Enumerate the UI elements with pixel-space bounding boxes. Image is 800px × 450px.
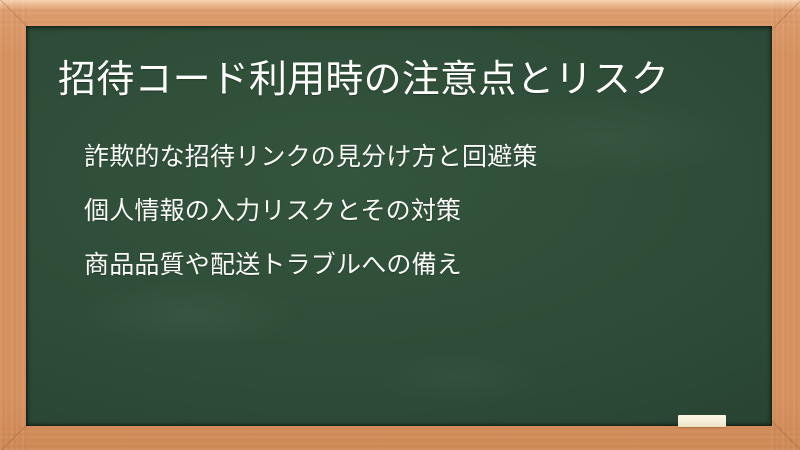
frame-grain-top (0, 0, 800, 26)
bullet-item: 詐欺的な招待リンクの見分け方と回避策 (84, 130, 538, 184)
board-content: 招待コード利用時の注意点とリスク 詐欺的な招待リンクの見分け方と回避策 個人情報… (26, 26, 772, 426)
frame-grain-right (771, 0, 800, 450)
bullet-item: 商品品質や配送トラブルへの備え (84, 238, 538, 292)
frame-grain-bottom (0, 426, 800, 450)
blackboard-slide: 招待コード利用時の注意点とリスク 詐欺的な招待リンクの見分け方と回避策 個人情報… (0, 0, 800, 450)
chalk-stick (678, 415, 726, 427)
frame-grain-left (0, 0, 27, 450)
bullet-list: 詐欺的な招待リンクの見分け方と回避策 個人情報の入力リスクとその対策 商品品質や… (84, 130, 538, 292)
chalkboard-surface: 招待コード利用時の注意点とリスク 詐欺的な招待リンクの見分け方と回避策 個人情報… (26, 26, 772, 426)
bullet-item: 個人情報の入力リスクとその対策 (84, 184, 538, 238)
slide-title: 招待コード利用時の注意点とリスク (58, 53, 669, 105)
